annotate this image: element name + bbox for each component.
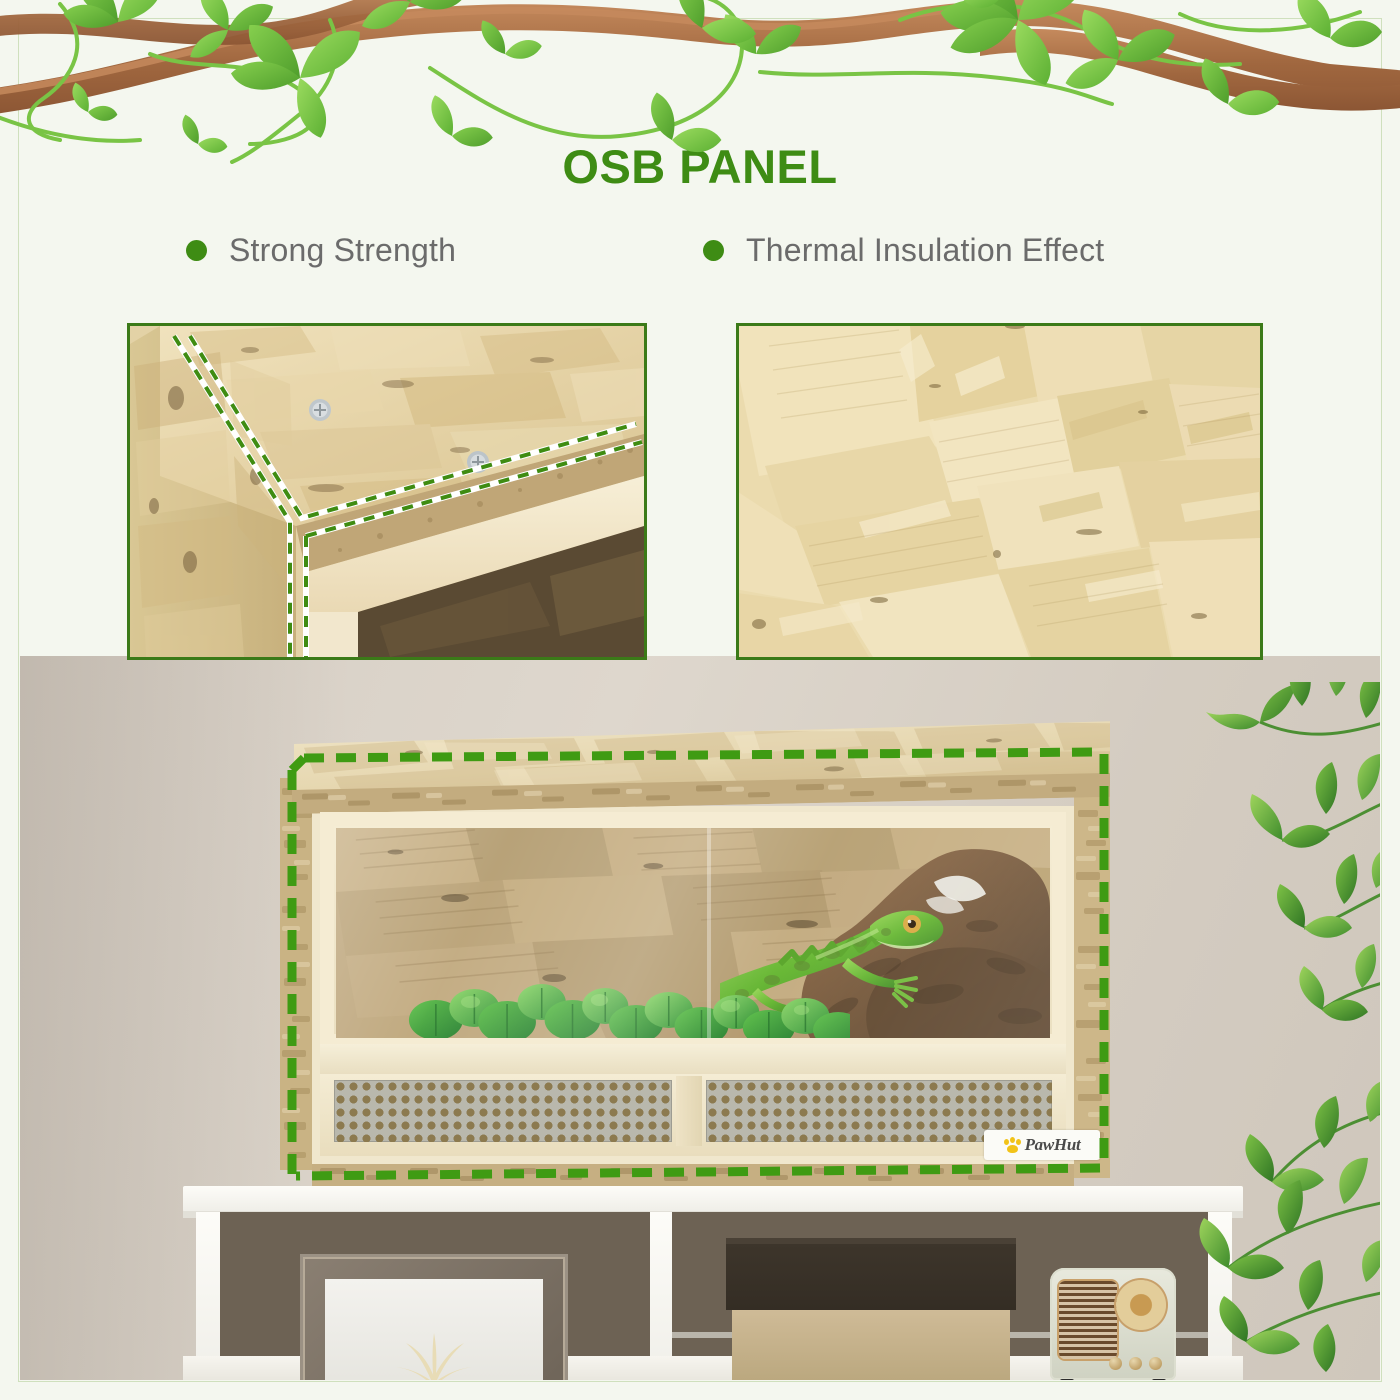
framed-picture (300, 1254, 568, 1380)
terrarium-glass-door-frame (320, 812, 1066, 1048)
picture-mat (325, 1279, 543, 1380)
osb-surface-texture-photo (736, 323, 1263, 660)
glass-reflection (336, 828, 1050, 1038)
terrarium-ventilation-row (320, 1074, 1066, 1156)
storage-box-tan (732, 1310, 1010, 1380)
bullet-dot-icon (186, 240, 207, 261)
retro-radio (1050, 1268, 1176, 1380)
osb-base-chips (312, 1164, 1074, 1186)
console-leg-left (196, 1212, 220, 1380)
picture-artwork (374, 1329, 494, 1380)
radio-foot (1060, 1379, 1074, 1380)
ventilation-mesh-left (334, 1080, 672, 1142)
console-table-top (183, 1186, 1243, 1212)
infographic-canvas: OSB PANEL Strong Strength Thermal Insula… (0, 0, 1400, 1400)
terrarium-middle-rail (320, 1044, 1066, 1078)
brand-logo: PawHut (984, 1130, 1100, 1160)
feature-item-strong-strength: Strong Strength (186, 232, 456, 269)
console-leg-middle (650, 1212, 672, 1380)
radio-foot (1152, 1379, 1166, 1380)
paw-print-icon (1004, 1138, 1021, 1153)
feature-label: Strong Strength (229, 232, 456, 269)
osb-corner-joint-photo (127, 323, 647, 660)
radio-knob (1149, 1357, 1162, 1370)
feature-item-thermal-insulation: Thermal Insulation Effect (703, 232, 1104, 269)
reptile-terrarium: PawHut (272, 744, 1110, 1186)
radio-knob (1129, 1357, 1142, 1370)
brand-name: PawHut (1025, 1135, 1081, 1155)
storage-box-dark (726, 1244, 1016, 1310)
osb-edge-texture-right (1074, 796, 1110, 1178)
houseplant (1176, 682, 1380, 1380)
glass-door-divider (707, 828, 711, 1038)
feature-label: Thermal Insulation Effect (746, 232, 1104, 269)
osb-edge-texture-left (280, 778, 314, 1170)
radio-speaker-grille (1059, 1281, 1117, 1359)
feature-list: Strong Strength Thermal Insulation Effec… (0, 232, 1400, 286)
radio-knob (1109, 1357, 1122, 1370)
terrarium-glass-doors (336, 828, 1050, 1038)
vine-decoration-icon (0, 0, 1400, 164)
bullet-dot-icon (703, 240, 724, 261)
vent-center-post (676, 1076, 702, 1146)
radio-tuning-dial (1116, 1280, 1166, 1330)
storage-boxes (726, 1244, 1016, 1380)
terrarium-in-room-photo: PawHut (20, 656, 1380, 1380)
